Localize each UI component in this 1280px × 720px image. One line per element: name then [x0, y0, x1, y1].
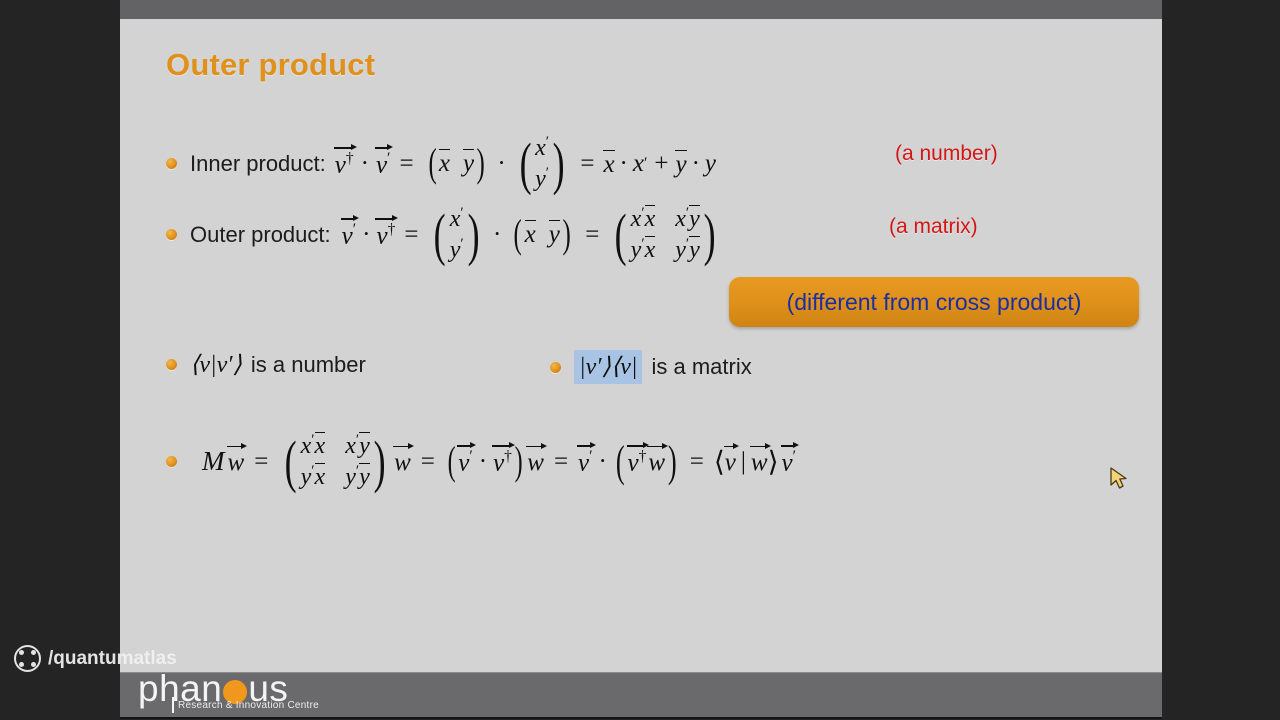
column-vector-xprime-yprime: ( x′ y′ ) — [430, 204, 483, 266]
logo-divider — [172, 697, 174, 713]
bullet-matrix-action-equation: M w = ( x′x x′y y′x y′y — [166, 431, 796, 493]
channel-handle: /quantumatlas — [48, 648, 177, 670]
outer-product-matrix: ( x′x x′y y′x y′y ) — [611, 204, 719, 266]
outer-product-equation: v′ · v† = ( x′ y′ ) · ( — [342, 204, 723, 266]
outer-product-matrix: ( x′x x′y y′x y′y ) — [281, 431, 389, 493]
slide-title: Outer product — [166, 47, 375, 83]
video-player: Outer product Inner product: v† · v′ = (… — [0, 0, 1280, 720]
outer-product-label: Outer product: — [190, 222, 331, 248]
slide-area: Outer product Inner product: v† · v′ = (… — [120, 0, 1162, 672]
row-vector-xbar-ybar: ( xy ) — [511, 218, 573, 251]
bullet-dot-icon — [166, 456, 177, 467]
bullet-ketbra-matrix: |v′⟩⟨v| is a matrix — [550, 350, 752, 384]
inner-product-equation: v† · v′ = ( xy ) · ( x′ y′ — [335, 133, 716, 195]
callout-different-from-cross-product: (different from cross product) — [729, 277, 1139, 327]
ketbra-matrix-text: is a matrix — [651, 354, 751, 380]
bullet-inner-product: Inner product: v† · v′ = ( xy ) · ( — [166, 133, 716, 195]
bullet-dot-icon — [550, 362, 561, 373]
note-a-number: (a number) — [895, 142, 998, 166]
channel-watermark: /quantumatlas — [14, 645, 177, 672]
bullet-braket-number: ⟨v|v′⟩ is a number — [166, 350, 366, 379]
bullet-dot-icon — [166, 359, 177, 370]
braket-number-text: is a number — [251, 352, 366, 378]
phanous-logo: phanus Research & Innovation Centre — [138, 672, 328, 716]
column-vector-xprime-yprime: ( x′ y′ ) — [516, 133, 569, 195]
slide-top-bar — [120, 0, 1162, 20]
braket-number-expression: ⟨v|v′⟩ — [190, 350, 242, 379]
note-a-matrix: (a matrix) — [889, 215, 978, 239]
film-reel-icon — [14, 645, 41, 672]
bullet-dot-icon — [166, 229, 177, 240]
callout-label: (different from cross product) — [787, 289, 1082, 316]
phanous-logo-tagline: Research & Innovation Centre — [178, 700, 319, 711]
presentation-slide: Outer product Inner product: v† · v′ = (… — [120, 19, 1162, 672]
row-vector-xbar-ybar: ( xy ) — [426, 147, 488, 180]
matrix-action-equation: M w = ( x′x x′y y′x y′y — [202, 431, 796, 493]
bullet-dot-icon — [166, 158, 177, 169]
ketbra-matrix-expression: |v′⟩⟨v| — [574, 350, 642, 384]
bullet-outer-product: Outer product: v′ · v† = ( x′ y′ ) · — [166, 204, 722, 266]
inner-product-label: Inner product: — [190, 151, 326, 177]
